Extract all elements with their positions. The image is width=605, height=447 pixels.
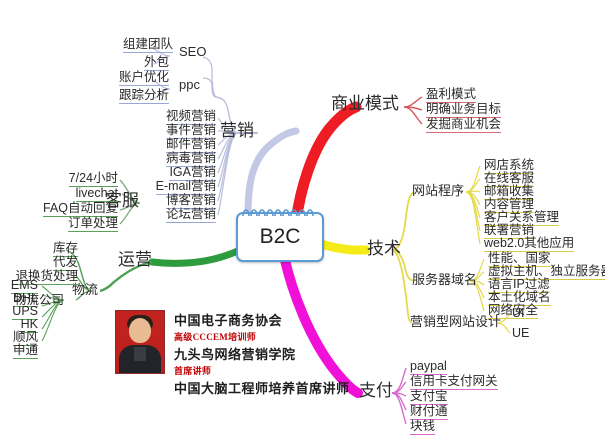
leaf-faq-auto-reply[interactable]: FAQ自动回复 [30, 202, 118, 216]
leaf-ppc-tracking-analysis[interactable]: 跟踪分析 [110, 89, 169, 103]
signature-line-1: 中国电子商务协会 [174, 310, 350, 329]
signature-line-5: 中国大脑工程师培养首席讲师 [174, 378, 350, 397]
leaf-seo-team[interactable]: 组建团队 [123, 38, 169, 52]
mindmap-canvas: B2C 营销 SEO 组建团队 外包 ppc 账户优化 跟踪分析 视频营销 事件… [0, 0, 605, 447]
leaf-paypal[interactable]: paypal [410, 360, 447, 374]
leaf-clear-business-goals[interactable]: 明确业务目标 [426, 103, 501, 117]
leaf-order-processing[interactable]: 订单处理 [42, 217, 118, 231]
leaf-email-marketing-cn[interactable]: 邮件营销 [140, 138, 216, 152]
leaf-video-marketing[interactable]: 视频营销 [140, 110, 216, 124]
leaf-dropshipping[interactable]: 代发 [40, 256, 78, 270]
node-seo[interactable]: SEO [179, 45, 206, 59]
leaf-viral-marketing[interactable]: 病毒营销 [140, 152, 216, 166]
node-logistics[interactable]: 物流 [72, 283, 98, 297]
leaf-forum-marketing[interactable]: 论坛营销 [140, 208, 216, 222]
leaf-ui[interactable]: UI [512, 307, 525, 321]
node-server-domain[interactable]: 服务器域名 [412, 273, 477, 287]
leaf-blog-marketing[interactable]: 博客营销 [140, 194, 216, 208]
leaf-inventory[interactable]: 库存 [40, 242, 78, 256]
central-node-b2c[interactable]: B2C [236, 212, 324, 262]
signature-line-2: 高级CCCEM培训师 [174, 330, 350, 343]
leaf-iga-marketing[interactable]: IGA营销 [140, 166, 216, 180]
leaf-shentong[interactable]: 申通 [2, 344, 38, 358]
leaf-ppc-account-optimization[interactable]: 账户优化 [110, 71, 169, 85]
leaf-seo-outsource[interactable]: 外包 [123, 56, 169, 70]
leaf-alipay[interactable]: 支付宝 [410, 390, 448, 404]
leaf-livechat[interactable]: livechat [42, 187, 118, 201]
leaf-web20-other-apps[interactable]: web2.0其他应用 [484, 237, 574, 251]
leaf-7-24-hours[interactable]: 7/24小时 [42, 172, 118, 186]
leaf-discover-opportunities[interactable]: 发掘商业机会 [426, 118, 501, 132]
leaf-credit-card-gateway[interactable]: 信用卡支付网关 [410, 375, 498, 389]
leaf-email-marketing[interactable]: E-mail营销 [133, 180, 216, 194]
leaf-kuaiqian[interactable]: 块钱 [410, 420, 435, 434]
signature-line-4: 首席讲师 [174, 364, 350, 377]
portrait-photo [115, 310, 165, 374]
branch-label-technology[interactable]: 技术 [367, 240, 401, 259]
branch-label-marketing[interactable]: 营销 [220, 122, 254, 141]
leaf-tenpay[interactable]: 财付通 [410, 405, 448, 419]
portrait-head [129, 318, 151, 343]
node-ppc[interactable]: ppc [179, 78, 200, 92]
leaf-profit-model[interactable]: 盈利模式 [426, 88, 476, 102]
signature-line-3: 九头鸟网络营销学院 [174, 344, 350, 363]
central-node-label: B2C [260, 225, 301, 248]
leaf-event-marketing[interactable]: 事件营销 [140, 124, 216, 138]
notebook-spiral-icon [238, 206, 318, 218]
branch-label-operations[interactable]: 运营 [118, 251, 152, 270]
branch-label-business-model[interactable]: 商业模式 [331, 95, 399, 114]
signature-text: 中国电子商务协会 高级CCCEM培训师 九头鸟网络营销学院 首席讲师 中国大脑工… [174, 310, 350, 397]
node-website-program[interactable]: 网站程序 [412, 184, 464, 198]
branch-label-payment[interactable]: 支付 [359, 382, 393, 401]
leaf-ue[interactable]: UE [512, 327, 529, 341]
signature-block: 中国电子商务协会 高级CCCEM培训师 九头鸟网络营销学院 首席讲师 中国大脑工… [115, 310, 350, 397]
node-marketing-website-design[interactable]: 营销型网站设计 [410, 315, 501, 329]
portrait-collar [134, 347, 146, 361]
